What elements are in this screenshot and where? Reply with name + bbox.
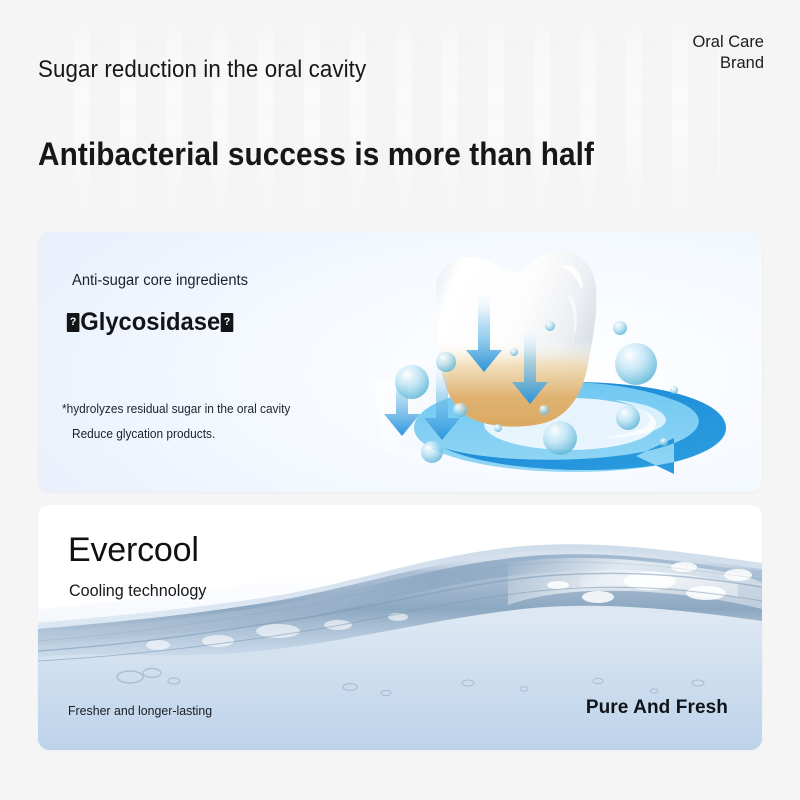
brand-label: Oral Care Brand [544, 32, 764, 74]
ingredient-card-text: Anti-sugar core ingredients ?Glycosidase… [68, 232, 398, 492]
infographic-page: Oral Care Brand Sugar reduction in the o… [0, 0, 800, 800]
header: Oral Care Brand Sugar reduction in the o… [0, 0, 800, 210]
page-title-secondary: Antibacterial success is more than half [38, 136, 594, 173]
cooling-subtitle: Cooling technology [69, 581, 206, 601]
cooling-title: Evercool [68, 531, 199, 570]
ingredient-kicker: Anti-sugar core ingredients [72, 272, 248, 290]
cooling-card: Evercool Cooling technology Fresher and … [38, 505, 762, 750]
cooling-label-left: Fresher and longer-lasting [68, 703, 212, 718]
missing-glyph-box-open: ? [67, 313, 80, 332]
ingredient-title-text: Glycosidase [80, 308, 220, 337]
ingredient-note-1: *hydrolyzes residual sugar in the oral c… [62, 402, 290, 416]
page-title-primary: Sugar reduction in the oral cavity [38, 56, 366, 84]
ingredient-note-2: Reduce glycation products. [72, 427, 215, 441]
ingredient-title: ?Glycosidase? [66, 308, 234, 337]
ingredient-card: Anti-sugar core ingredients ?Glycosidase… [38, 232, 762, 492]
missing-glyph-box-close: ? [221, 313, 234, 332]
cooling-label-right: Pure And Fresh [586, 697, 728, 719]
tooth-illustration [374, 232, 762, 492]
brand-line-1: Oral Care [544, 32, 764, 53]
brand-line-2: Brand [544, 53, 764, 74]
